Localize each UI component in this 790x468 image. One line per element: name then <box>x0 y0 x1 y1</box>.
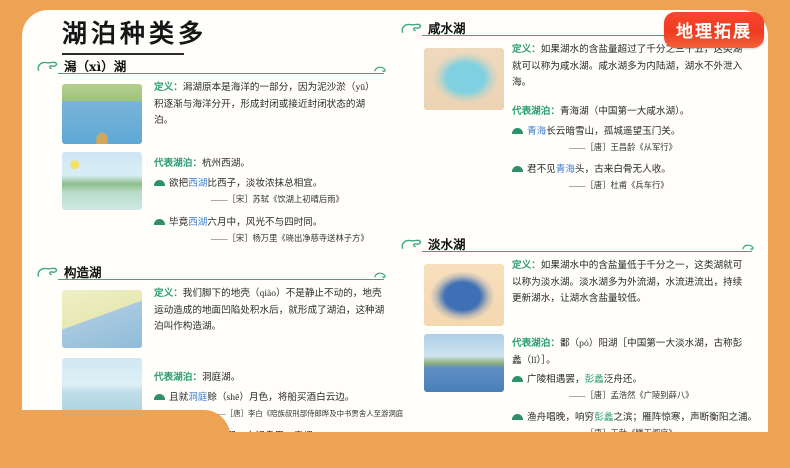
right-orange-strip <box>768 0 790 468</box>
poem-text-before: 欲把 <box>169 178 188 189</box>
fan-bullet-icon <box>512 128 523 134</box>
poem-item: 毕竟西湖六月中，风光不与四时同。 ——［宋］杨万里《晓出净慈寺送林子方》 <box>154 215 401 247</box>
definition-label: 定义： <box>154 288 183 299</box>
poem-text-after: 之滨；雁阵惊寒，声断衡阳之浦。 <box>613 412 757 423</box>
cloud-tail-icon <box>374 270 388 280</box>
left-column: 潟（xì）湖 定义：潟湖原本是海洋的一部分，因为泥沙淤（yū）积逐渐与海洋分开，… <box>36 56 388 442</box>
poem-text-after: 比西子，淡妆浓抹总相宜。 <box>207 178 322 189</box>
title-underline <box>62 53 184 55</box>
cloud-icon <box>400 20 422 36</box>
definition-danshui-hu: 定义：如果湖水中的含盐量低于千分之一，这类湖就可以称为淡水湖。淡水湖多为外流湖，… <box>512 258 750 308</box>
definition-text: 如果湖水的含盐量超过了千分之三十五，这类湖就可以称为咸水湖。咸水湖多为内陆湖，湖… <box>512 44 742 88</box>
section-xianshui-hu: 咸水湖 定义：如果湖水的含盐量超过了千分之三十五，这类湖就可以称为咸水湖。咸水湖… <box>400 18 756 234</box>
representative-xi-hu: 代表湖泊：杭州西湖。 <box>154 156 386 173</box>
fan-bullet-icon <box>154 394 165 400</box>
definition-label: 定义： <box>512 44 541 55</box>
poem-item: 欲把西湖比西子，淡妆浓抹总相宜。 ——［宋］苏轼《饮湖上初晴后雨》 <box>154 176 401 208</box>
representative-label: 代表湖泊： <box>512 106 560 117</box>
image-rift-basin-diagram <box>62 290 142 348</box>
page-stage: 湖泊种类多 潟（xì）湖 <box>0 0 790 468</box>
poem-highlight: 彭蠡 <box>594 412 613 423</box>
status-badge: 地理拓展 <box>664 12 764 48</box>
image-lagoon-diagram <box>62 84 142 144</box>
poem-source: ——［唐］孟浩然《广陵别薛八》 <box>527 388 765 405</box>
poem-text-after: 六月中，风光不与四时同。 <box>207 217 322 228</box>
definition-text: 潟湖原本是海洋的一部分，因为泥沙淤（yū）积逐渐与海洋分开，形成封闭或接近封闭状… <box>154 82 375 126</box>
cloud-tail-icon <box>374 64 388 74</box>
poem-highlight: 青海 <box>527 126 546 137</box>
fan-bullet-icon <box>512 414 523 420</box>
poem-item: 青海长云暗雪山，孤城遥望玉门关。 ——［唐］王昌龄《从军行》 <box>512 124 763 156</box>
fan-bullet-icon <box>154 219 165 225</box>
page-title-wrap: 湖泊种类多 <box>62 14 207 55</box>
poem-text-after: 头，古来白骨无人收。 <box>575 164 671 175</box>
poem-source: ——［唐］王昌龄《从军行》 <box>527 140 763 157</box>
fan-bullet-icon <box>154 180 165 186</box>
poem-highlight: 洞庭 <box>188 392 207 403</box>
poem-source: ——［宋］苏轼《饮湖上初晴后雨》 <box>169 192 401 209</box>
poem-highlight: 西湖 <box>188 178 207 189</box>
representative-value: 洞庭湖。 <box>202 372 240 383</box>
page-sheet: 湖泊种类多 潟（xì）湖 <box>22 10 768 442</box>
poem-text-before: 广陵相遇罢， <box>527 374 585 385</box>
section-body-xianshui-hu: 定义：如果湖水的含盐量超过了千分之三十五，这类湖就可以称为咸水湖。咸水湖多为内陆… <box>400 42 756 234</box>
poem-highlight: 青海 <box>556 164 575 175</box>
section-rule <box>58 279 384 280</box>
representative-xianshui-hu: 代表湖泊：青海湖（中国第一大咸水湖）。 <box>512 104 748 121</box>
representative-label: 代表湖泊： <box>512 338 560 349</box>
definition-text: 我们脚下的地壳（qiào）不是静止不动的，地壳运动造成的地面凹陷处积水后，就形成… <box>154 288 384 332</box>
poem-text-after: 泛舟还。 <box>604 374 642 385</box>
representative-value: 青海湖（中国第一大咸水湖）。 <box>560 106 690 117</box>
image-qinghai-lake-map <box>424 48 504 110</box>
poem-highlight: 彭蠡 <box>585 374 604 385</box>
poem-text-before: 渔舟唱晚，响穷 <box>527 412 594 423</box>
section-header-danshui-hu: 淡水湖 <box>400 234 756 258</box>
definition-label: 定义： <box>154 82 183 93</box>
poem-source: ——［宋］杨万里《晓出净慈寺送林子方》 <box>169 231 401 248</box>
poem-item: 君不见青海头，古来白骨无人收。 ——［唐］杜甫《兵车行》 <box>512 162 763 194</box>
section-xi-hu: 潟（xì）湖 定义：潟湖原本是海洋的一部分，因为泥沙淤（yū）积逐渐与海洋分开，… <box>36 56 388 258</box>
poem-source: ——［唐］杜甫《兵车行》 <box>527 178 763 195</box>
representative-gouzao-hu: 代表湖泊：洞庭湖。 <box>154 370 386 387</box>
image-poyang-lake-map <box>424 264 504 326</box>
cloud-icon <box>36 264 58 280</box>
section-header-xi-hu: 潟（xì）湖 <box>36 56 388 80</box>
cloud-icon <box>36 58 58 74</box>
representative-label: 代表湖泊： <box>154 372 202 383</box>
section-body-danshui-hu: 定义：如果湖水中的含盐量低于千分之一，这类湖就可以称为淡水湖。淡水湖多为外流湖，… <box>400 258 756 442</box>
image-dongting-lake-pavilion-scene <box>62 358 142 416</box>
poem-text-after: 赊（shē）月色，将船买酒白云边。 <box>207 392 354 403</box>
definition-text: 如果湖水中的含盐量低于千分之一，这类湖就可以称为淡水湖。淡水湖多为外流湖，水流进… <box>512 260 742 304</box>
cloud-icon <box>400 236 422 252</box>
section-header-gouzao-hu: 构造湖 <box>36 262 388 286</box>
fan-bullet-icon <box>512 376 523 382</box>
representative-value: 杭州西湖。 <box>202 158 250 169</box>
poem-text-before: 毕竟 <box>169 217 188 228</box>
cloud-tail-icon <box>742 242 756 252</box>
definition-xianshui-hu: 定义：如果湖水的含盐量超过了千分之三十五，这类湖就可以称为咸水湖。咸水湖多为内陆… <box>512 42 748 92</box>
poem-item: 广陵相遇罢，彭蠡泛舟还。 ——［唐］孟浩然《广陵别薛八》 <box>512 372 765 404</box>
bottom-band-curve <box>0 410 230 440</box>
page-title: 湖泊种类多 <box>62 14 207 50</box>
section-rule <box>58 73 384 74</box>
definition-label: 定义： <box>512 260 541 271</box>
section-rule <box>422 251 752 252</box>
poem-text-before: 且就 <box>169 392 188 403</box>
representative-label: 代表湖泊： <box>154 158 202 169</box>
poem-text-after: 长云暗雪山，孤城遥望玉门关。 <box>546 126 680 137</box>
image-poyang-lake-scene <box>424 334 504 392</box>
definition-gouzao-hu: 定义：我们脚下的地壳（qiào）不是静止不动的，地壳运动造成的地面凹陷处积水后，… <box>154 286 386 336</box>
fan-bullet-icon <box>512 166 523 172</box>
poem-highlight: 西湖 <box>188 217 207 228</box>
definition-xi-hu: 定义：潟湖原本是海洋的一部分，因为泥沙淤（yū）积逐渐与海洋分开，形成封闭或接近… <box>154 80 384 130</box>
poem-text-before: 君不见 <box>527 164 556 175</box>
section-danshui-hu: 淡水湖 定义：如果湖水中的含盐量低于千分之一，这类湖就可以称为淡水湖。淡水湖多为… <box>400 234 756 442</box>
image-west-lake-pagoda-scene <box>62 152 142 210</box>
section-body-xi-hu: 定义：潟湖原本是海洋的一部分，因为泥沙淤（yū）积逐渐与海洋分开，形成封闭或接近… <box>36 80 388 258</box>
right-column: 咸水湖 定义：如果湖水的含盐量超过了千分之三十五，这类湖就可以称为咸水湖。咸水湖… <box>400 18 756 442</box>
representative-danshui-hu: 代表湖泊：鄱（pó）阳湖［中国第一大淡水湖，古称彭蠡（lǐ）］。 <box>512 336 750 369</box>
